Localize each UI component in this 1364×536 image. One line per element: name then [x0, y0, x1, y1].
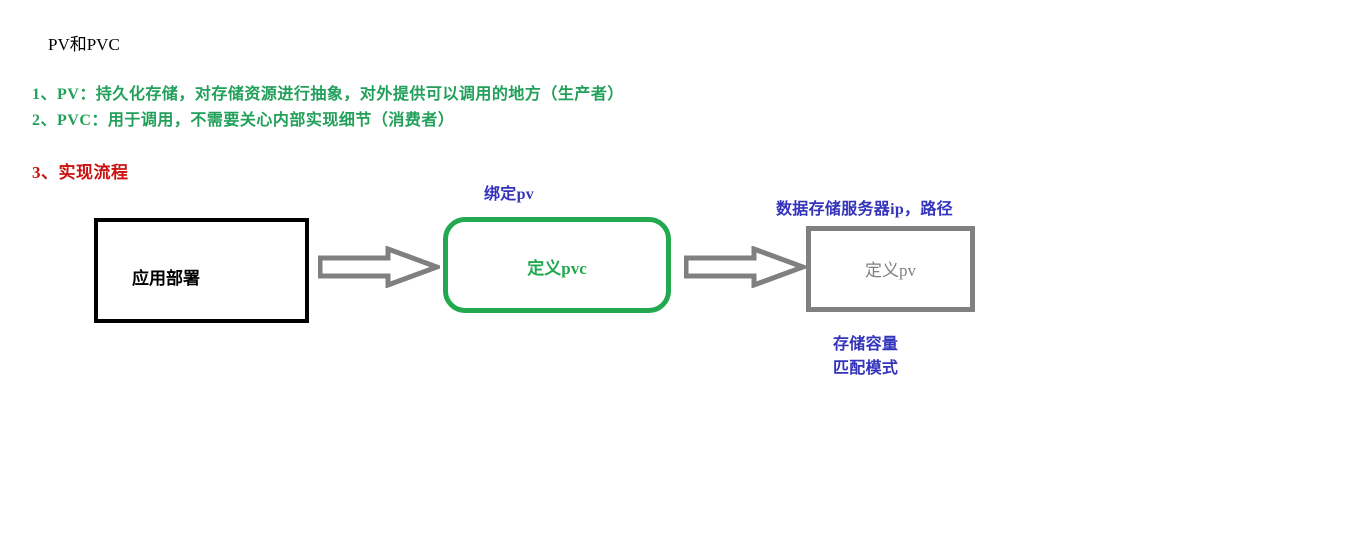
callout-server-ip-path: 数据存储服务器ip，路径: [776, 195, 953, 219]
box-define-pvc-label: 定义pvc: [448, 254, 666, 279]
callout-match-mode: 匹配模式: [833, 354, 898, 378]
box-define-pvc: 定义pvc: [443, 217, 671, 313]
flow-diagram: 应用部署 绑定pv 定义pvc 数据存储服务器ip，路径 定义pv 存储容量 匹…: [0, 0, 1364, 536]
box-define-pv: 定义pv: [806, 226, 975, 312]
arrow-pvc-to-pv-icon: [684, 246, 806, 288]
arrow-app-to-pvc-icon: [318, 246, 440, 288]
box-app-deploy-label: 应用部署: [132, 264, 200, 289]
callout-storage-capacity: 存储容量: [833, 330, 898, 354]
box-app-deploy: 应用部署: [94, 218, 309, 323]
box-define-pv-label: 定义pv: [811, 256, 970, 281]
callout-bind-pv: 绑定pv: [484, 180, 534, 204]
